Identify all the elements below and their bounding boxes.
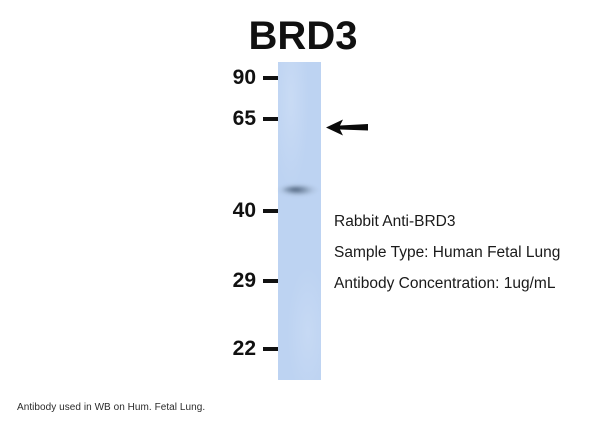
mw-marker-40: 40 — [230, 200, 278, 221]
mw-marker-29-label: 29 — [233, 270, 256, 291]
mw-marker-22-tick — [263, 347, 278, 351]
mw-marker-40-tick — [263, 209, 278, 213]
mw-marker-65-label: 65 — [233, 108, 256, 129]
mw-marker-22: 22 — [230, 338, 278, 359]
mw-marker-90-label: 90 — [233, 67, 256, 88]
gel-lane — [278, 62, 321, 380]
western-blot-figure: BRD3 90 65 40 29 22 Rabbit Anti-BRD3 Sam… — [0, 0, 600, 430]
band-pointer-arrow — [326, 119, 368, 136]
mw-marker-65: 65 — [230, 108, 278, 129]
mw-marker-90: 90 — [230, 67, 278, 88]
mw-marker-90-tick — [263, 76, 278, 80]
annotation-sample-type: Sample Type: Human Fetal Lung — [334, 237, 594, 268]
mw-marker-40-label: 40 — [233, 200, 256, 221]
annotation-concentration: Antibody Concentration: 1ug/mL — [334, 268, 594, 299]
annotation-antibody: Rabbit Anti-BRD3 — [334, 206, 594, 237]
page-title: BRD3 — [243, 14, 363, 58]
mw-marker-65-tick — [263, 117, 278, 121]
annotation-block: Rabbit Anti-BRD3 Sample Type: Human Feta… — [334, 206, 594, 299]
protein-band-core — [283, 186, 309, 193]
footer-caption: Antibody used in WB on Hum. Fetal Lung. — [17, 402, 205, 413]
mw-marker-29-tick — [263, 279, 278, 283]
mw-marker-22-label: 22 — [233, 338, 256, 359]
gel-lane-texture — [278, 62, 321, 380]
mw-marker-29: 29 — [230, 270, 278, 291]
